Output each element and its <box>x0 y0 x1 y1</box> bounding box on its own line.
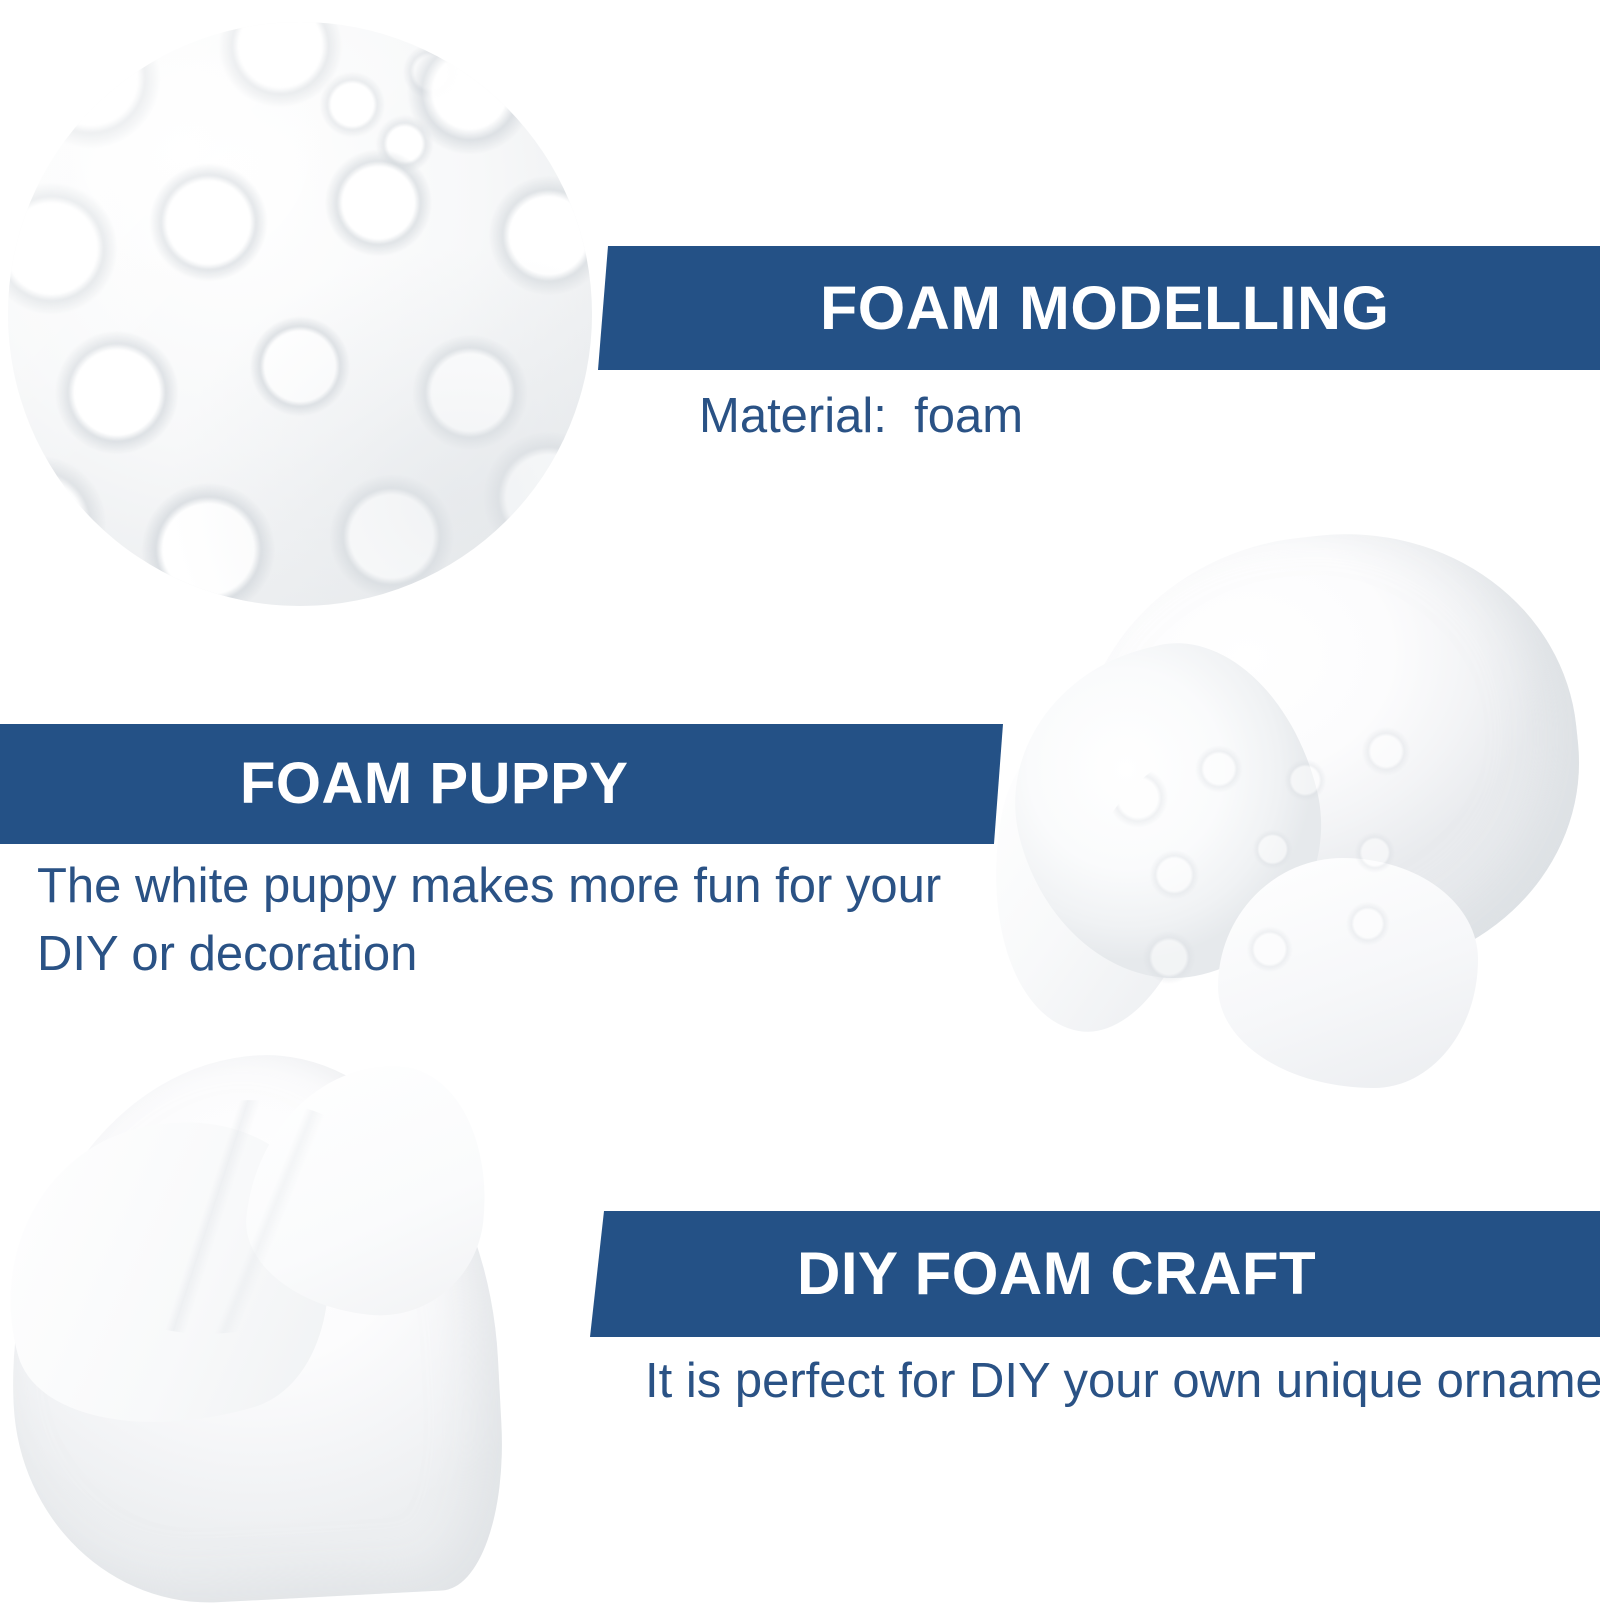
foam-craft-image <box>0 1028 520 1600</box>
description-diy-foam-craft: It is perfect for DIY your own unique or… <box>645 1348 1595 1416</box>
description-foam-puppy: The white puppy makes more fun for your … <box>37 853 977 988</box>
description-foam-modelling: Material: foam <box>699 383 1023 451</box>
infographic-canvas: FOAM MODELLING Material: foam FOAM PUPPY… <box>0 0 1600 1600</box>
banner-title-foam-modelling: FOAM MODELLING <box>820 278 1390 339</box>
foam-puppy-image <box>960 528 1600 1088</box>
banner-foam-puppy: FOAM PUPPY <box>0 724 1003 844</box>
foam-texture-circle-image <box>8 22 592 606</box>
foam-sheen-overlay <box>8 22 592 606</box>
banner-foam-modelling: FOAM MODELLING <box>598 246 1600 370</box>
banner-diy-foam-craft: DIY FOAM CRAFT <box>590 1211 1600 1337</box>
banner-title-foam-puppy: FOAM PUPPY <box>240 755 629 813</box>
banner-title-diy-foam-craft: DIY FOAM CRAFT <box>797 1244 1316 1304</box>
